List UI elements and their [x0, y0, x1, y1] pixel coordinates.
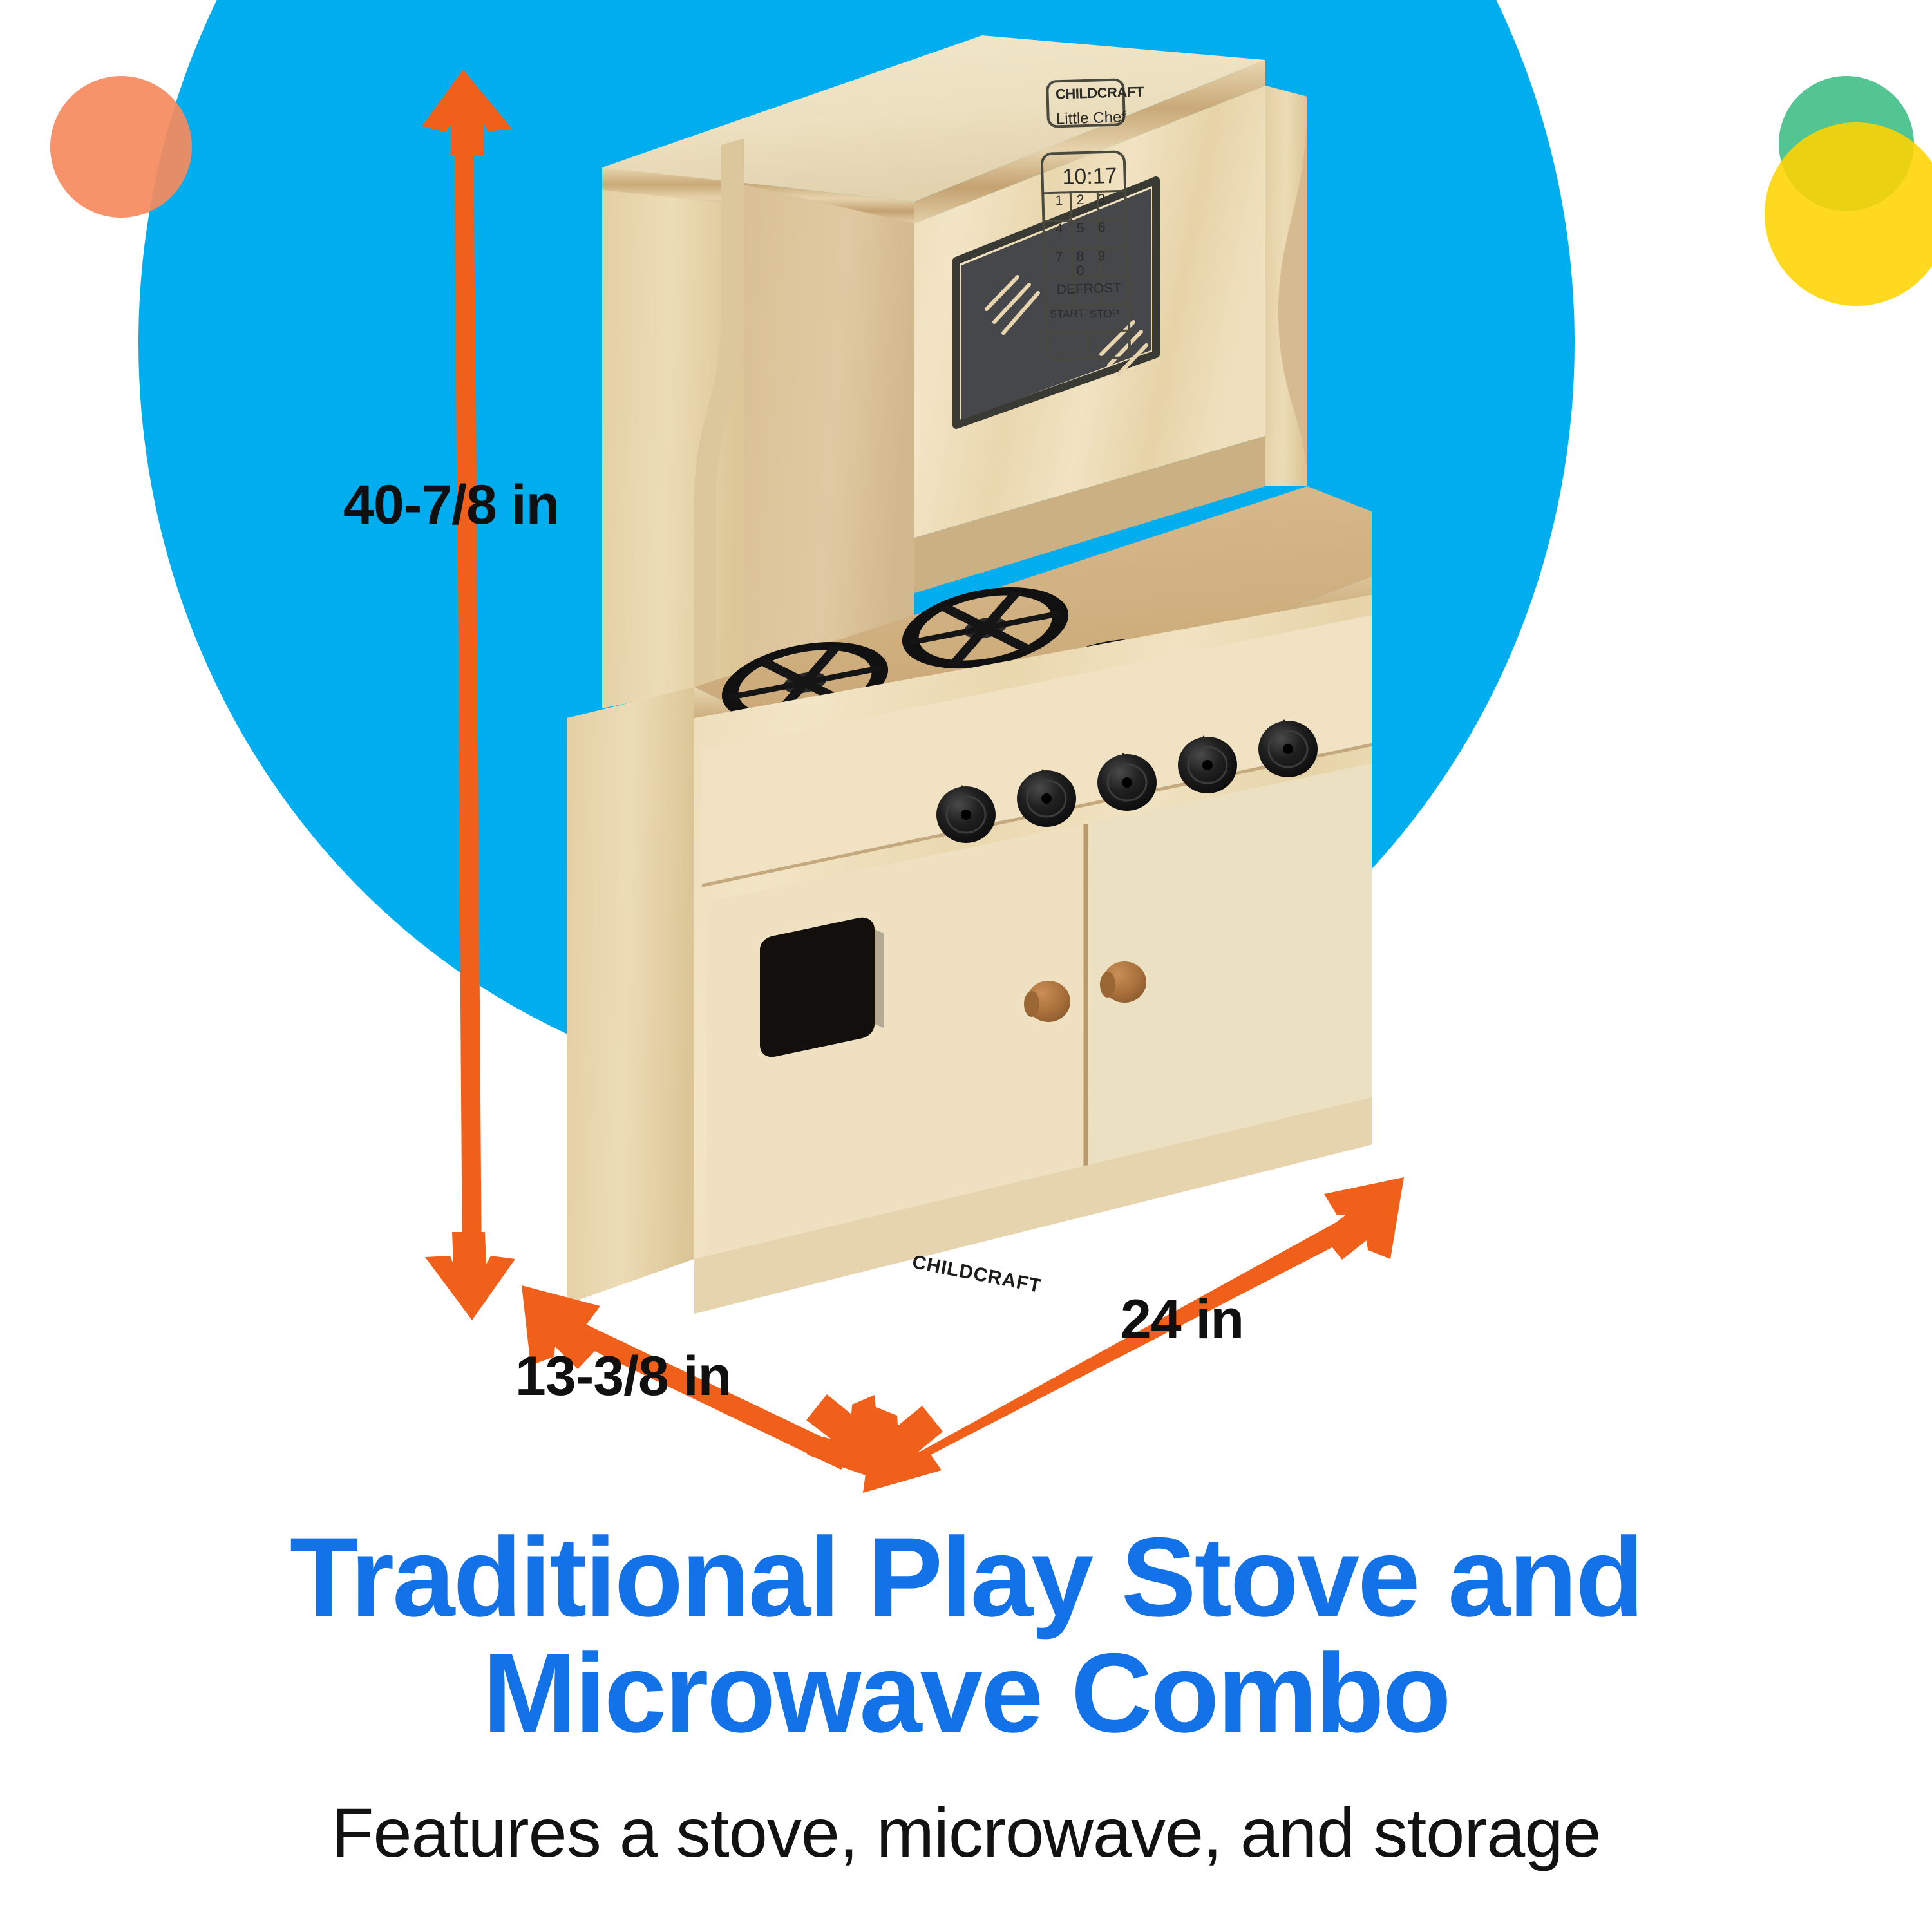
keypad-key-0[interactable]: 0: [1070, 263, 1092, 279]
keypad-key-2[interactable]: 2: [1070, 193, 1092, 209]
microwave-model-label: Little Chef: [1056, 108, 1127, 128]
infographic-canvas: CHILDCRAFT Little Chef 10:17 1 2 3 4 5 6…: [0, 0, 1932, 1932]
keypad-key-9[interactable]: 9: [1091, 249, 1113, 265]
microwave-defrost-button[interactable]: DEFROST: [1051, 280, 1128, 298]
keypad-key-4[interactable]: 4: [1048, 222, 1070, 238]
product-title-line1: Traditional Play Stove and: [0, 1520, 1932, 1636]
keypad-key-6[interactable]: 6: [1091, 220, 1113, 236]
keypad-key-3[interactable]: 3: [1091, 192, 1113, 208]
decorative-dot-orange: [50, 76, 192, 218]
keypad-key-7[interactable]: 7: [1048, 250, 1070, 266]
microwave-brand-label: CHILDCRAFT: [1056, 84, 1127, 102]
dimension-label-depth: 13-3/8 in: [515, 1345, 731, 1408]
product-title: Traditional Play Stove and Microwave Com…: [0, 1520, 1932, 1752]
oven-window: [760, 918, 875, 1057]
dimension-label-height: 40-7/8 in: [343, 473, 559, 537]
depth-arrow-head-end: [806, 1394, 882, 1481]
keypad-key-1[interactable]: 1: [1048, 193, 1070, 209]
decorative-dot-yellow: [1765, 122, 1932, 306]
product-subtitle: Features a stove, microwave, and storage: [0, 1792, 1932, 1873]
keypad-key-5[interactable]: 5: [1070, 221, 1092, 237]
product-illustration: [567, 35, 1372, 1349]
width-arrow-head-start: [863, 1406, 943, 1493]
microwave-stop-button[interactable]: STOP: [1086, 307, 1124, 321]
product-title-line2: Microwave Combo: [0, 1636, 1932, 1752]
microwave-clock-display: 10:17: [1053, 163, 1126, 190]
caption-block: Traditional Play Stove and Microwave Com…: [0, 1520, 1932, 1873]
dimension-label-width: 24 in: [1121, 1288, 1244, 1352]
microwave-start-button[interactable]: START: [1048, 307, 1086, 321]
height-arrow-head-bottom: [425, 1232, 515, 1320]
